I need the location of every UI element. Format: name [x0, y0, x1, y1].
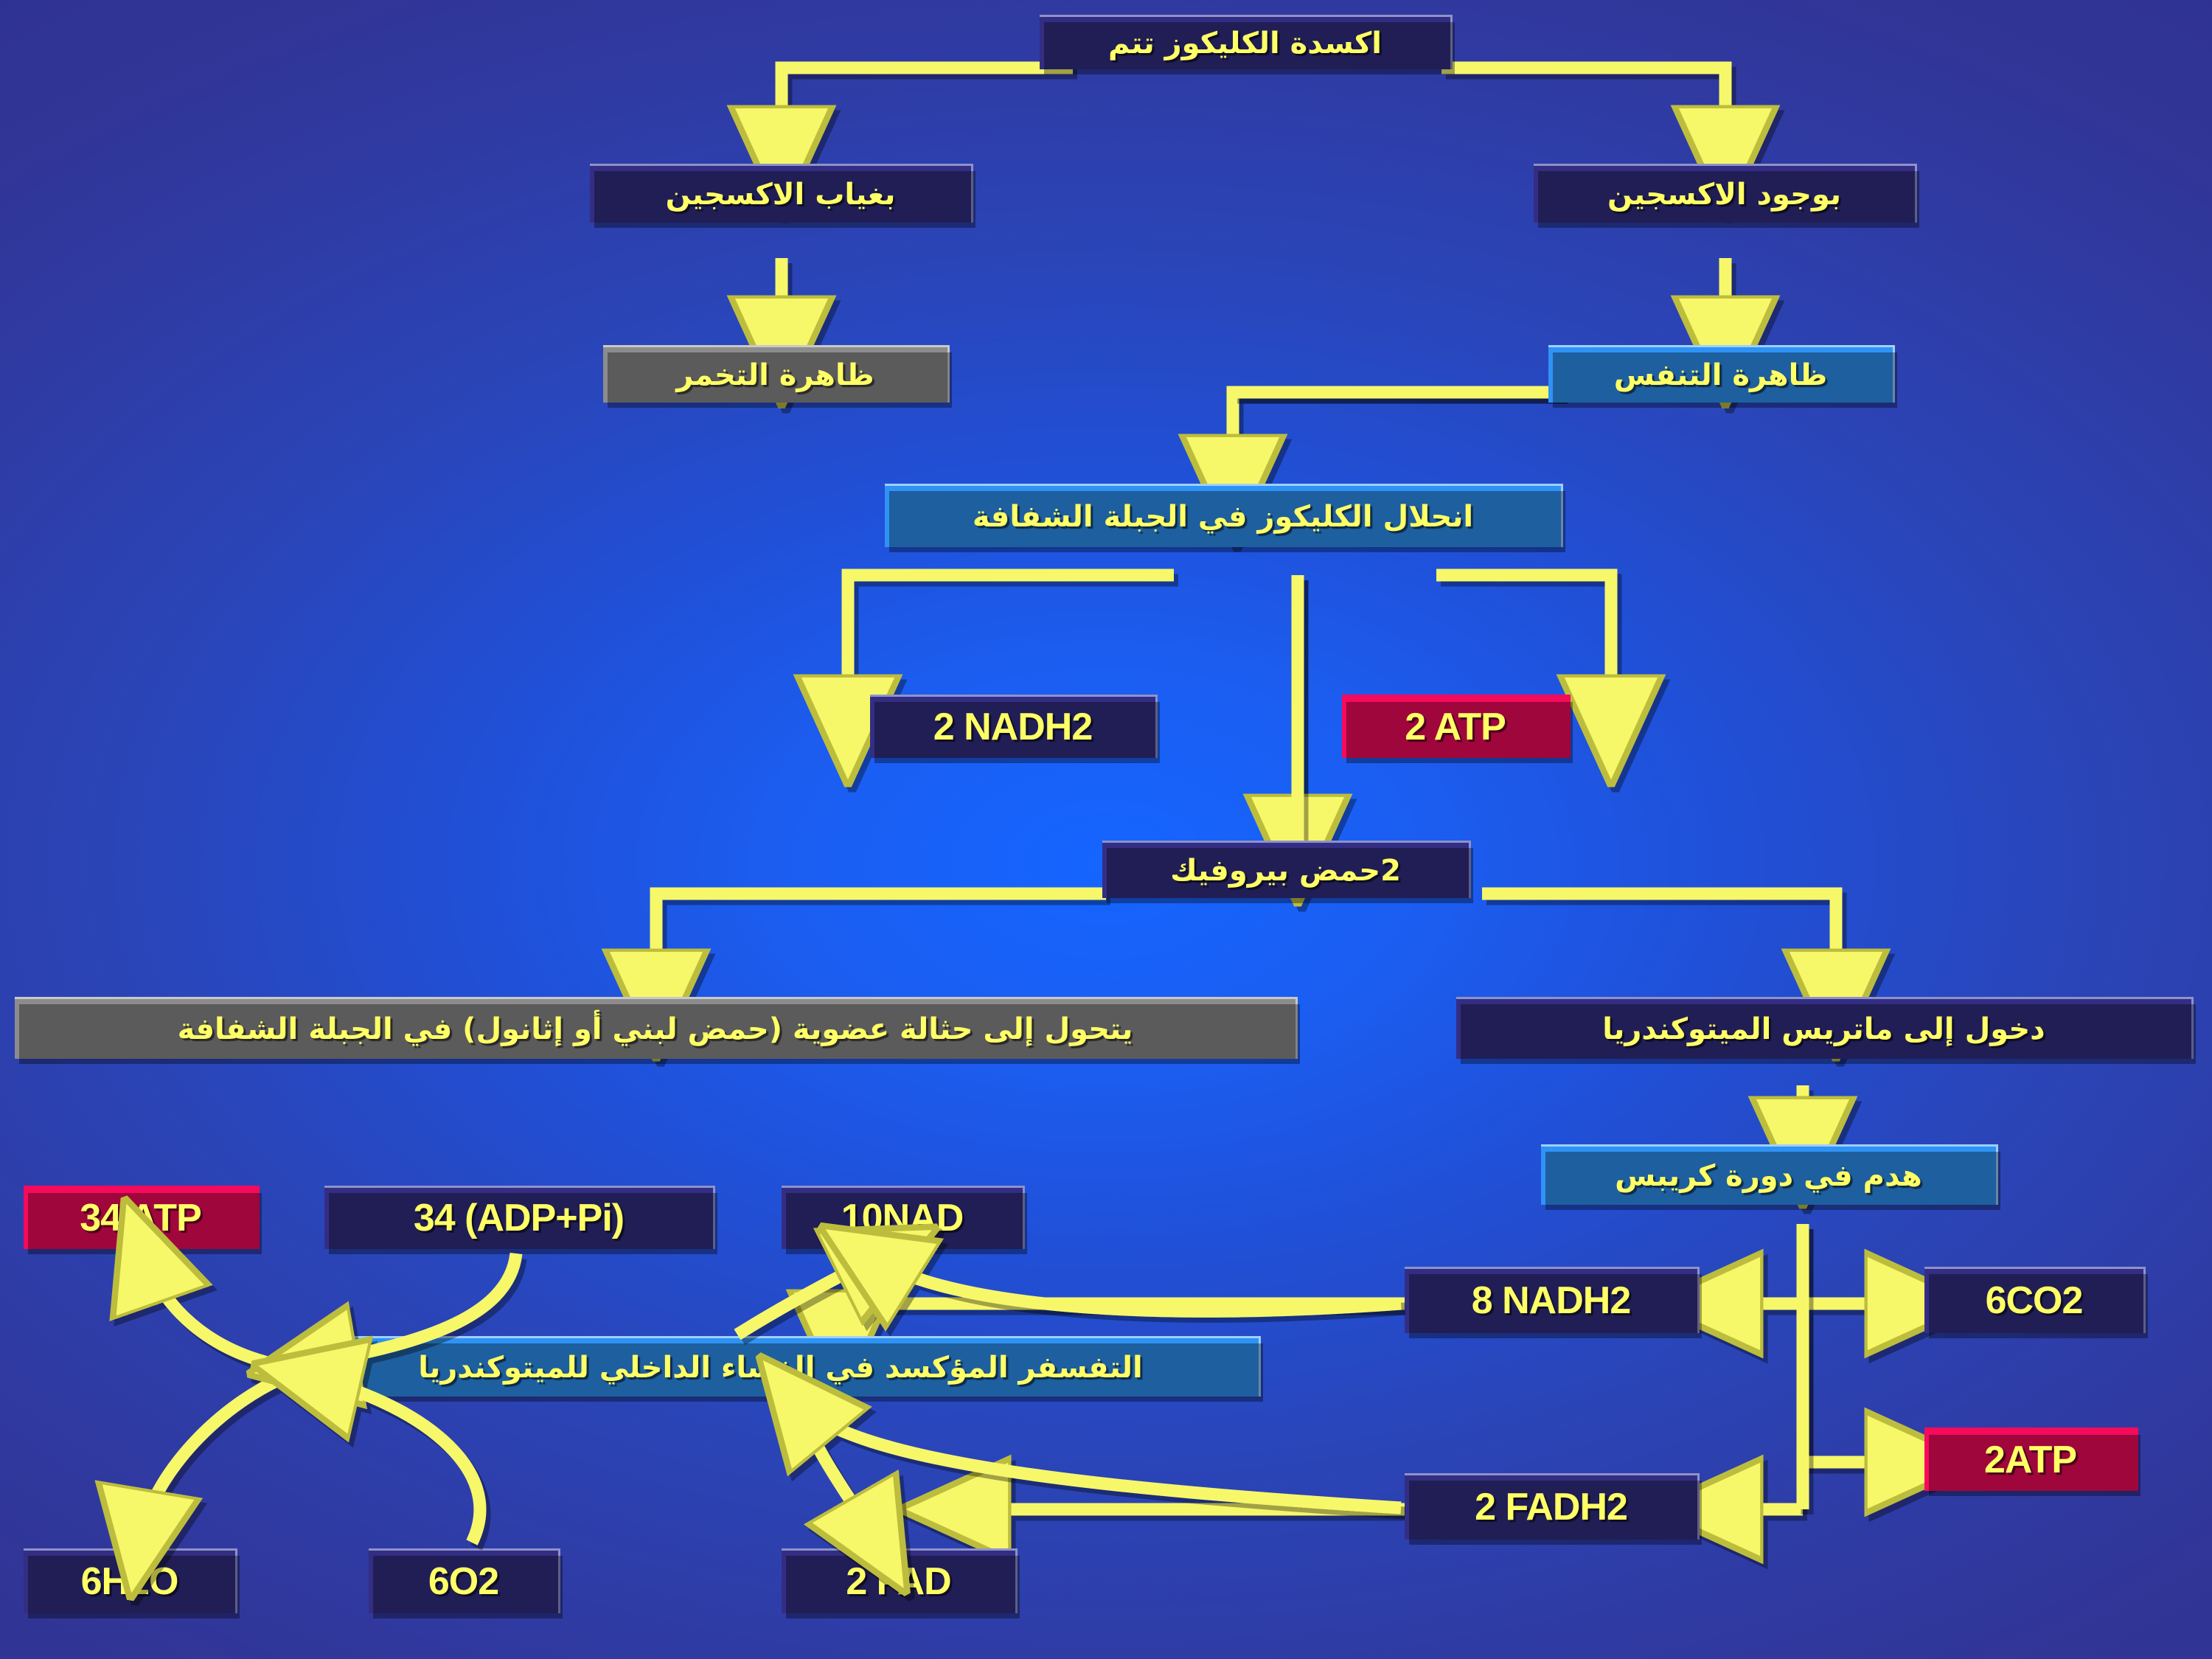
flowchart-canvas: اكسدة الكليكوز تتم بغياب الاكسجين بوجود …: [0, 0, 2212, 1659]
connector-lines-front: [0, 0, 2212, 1659]
